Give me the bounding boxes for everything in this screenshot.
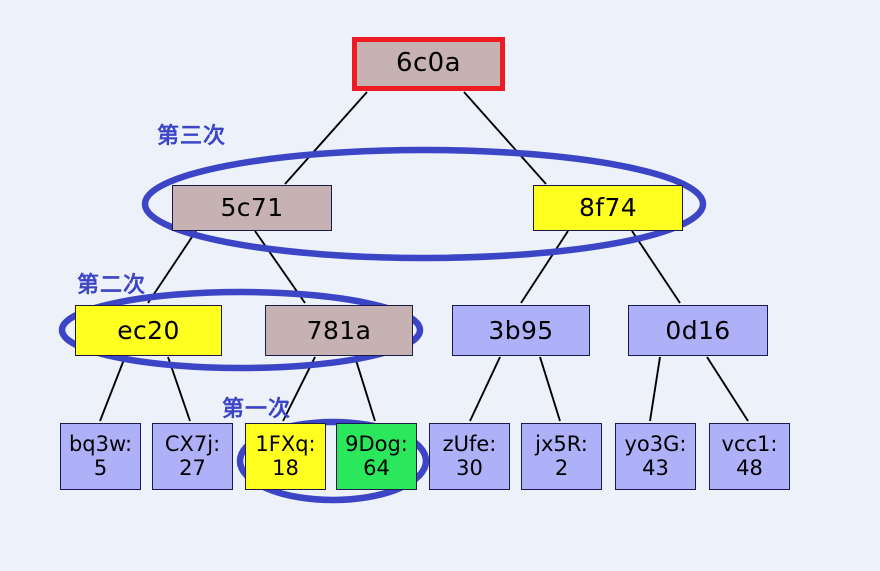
diagram-canvas: 6c0a 5c71 8f74 ec20 781a 3b95 0d16 bq3w:…	[0, 0, 880, 571]
leaf-value: 43	[642, 457, 669, 481]
edge-3b95-jx5R	[540, 357, 560, 421]
leaf-value: 5	[94, 457, 107, 481]
leaf-key: 1FXq:	[255, 433, 315, 457]
node-label: 5c71	[220, 194, 283, 222]
edge-5c71-781a	[255, 231, 305, 303]
node-label: 3b95	[488, 317, 553, 345]
annotation-label-second-pass: 第二次	[77, 267, 146, 299]
annotation-label-third-pass: 第三次	[157, 118, 226, 150]
node-label: 8f74	[579, 194, 637, 222]
node-label: ec20	[117, 317, 180, 345]
tree-node-8f74[interactable]: 8f74	[533, 185, 683, 231]
leaf-value: 2	[555, 457, 568, 481]
leaf-key: CX7j:	[165, 433, 220, 457]
leaf-key: bq3w:	[69, 433, 132, 457]
node-label: 0d16	[665, 317, 730, 345]
leaf-key: zUfe:	[443, 433, 497, 457]
edge-5c71-ec20	[148, 231, 196, 303]
leaf-value: 18	[272, 457, 299, 481]
edge-0d16-yo3G	[650, 357, 660, 421]
tree-leaf-1FXq[interactable]: 1FXq: 18	[245, 423, 326, 490]
leaf-value: 30	[456, 457, 483, 481]
leaf-key: yo3G:	[625, 433, 687, 457]
tree-node-781a[interactable]: 781a	[265, 305, 413, 356]
edge-ec20-bq3w	[100, 357, 125, 421]
leaf-key: 9Dog:	[345, 433, 408, 457]
leaf-value: 64	[363, 457, 390, 481]
tree-leaf-jx5R[interactable]: jx5R: 2	[521, 423, 602, 490]
leaf-key: vcc1:	[722, 433, 778, 457]
tree-node-ec20[interactable]: ec20	[75, 305, 222, 356]
tree-leaf-CX7j[interactable]: CX7j: 27	[152, 423, 233, 490]
leaf-key: jx5R:	[535, 433, 588, 457]
edge-ec20-CX7j	[168, 357, 190, 421]
tree-leaf-zUfe[interactable]: zUfe: 30	[429, 423, 510, 490]
edge-3b95-zUfe	[470, 357, 500, 421]
tree-node-root[interactable]: 6c0a	[352, 37, 505, 91]
edge-0d16-vcc1	[707, 357, 748, 421]
leaf-value: 48	[736, 457, 763, 481]
leaf-value: 27	[179, 457, 206, 481]
annotation-label-first-pass: 第一次	[222, 391, 291, 423]
edge-781a-9Dog	[355, 357, 375, 421]
node-label: 6c0a	[396, 49, 461, 78]
tree-leaf-9Dog[interactable]: 9Dog: 64	[336, 423, 417, 490]
edge-8f74-0d16	[632, 231, 680, 303]
tree-node-5c71[interactable]: 5c71	[172, 185, 332, 231]
tree-leaf-vcc1[interactable]: vcc1: 48	[709, 423, 790, 490]
edge-8f74-3b95	[521, 231, 568, 303]
node-label: 781a	[307, 317, 372, 345]
edge-root-8f74	[464, 92, 546, 184]
tree-leaf-bq3w[interactable]: bq3w: 5	[60, 423, 141, 490]
edge-root-5c71	[285, 92, 367, 184]
tree-node-3b95[interactable]: 3b95	[452, 305, 590, 356]
tree-node-0d16[interactable]: 0d16	[628, 305, 768, 356]
tree-leaf-yo3G[interactable]: yo3G: 43	[615, 423, 696, 490]
